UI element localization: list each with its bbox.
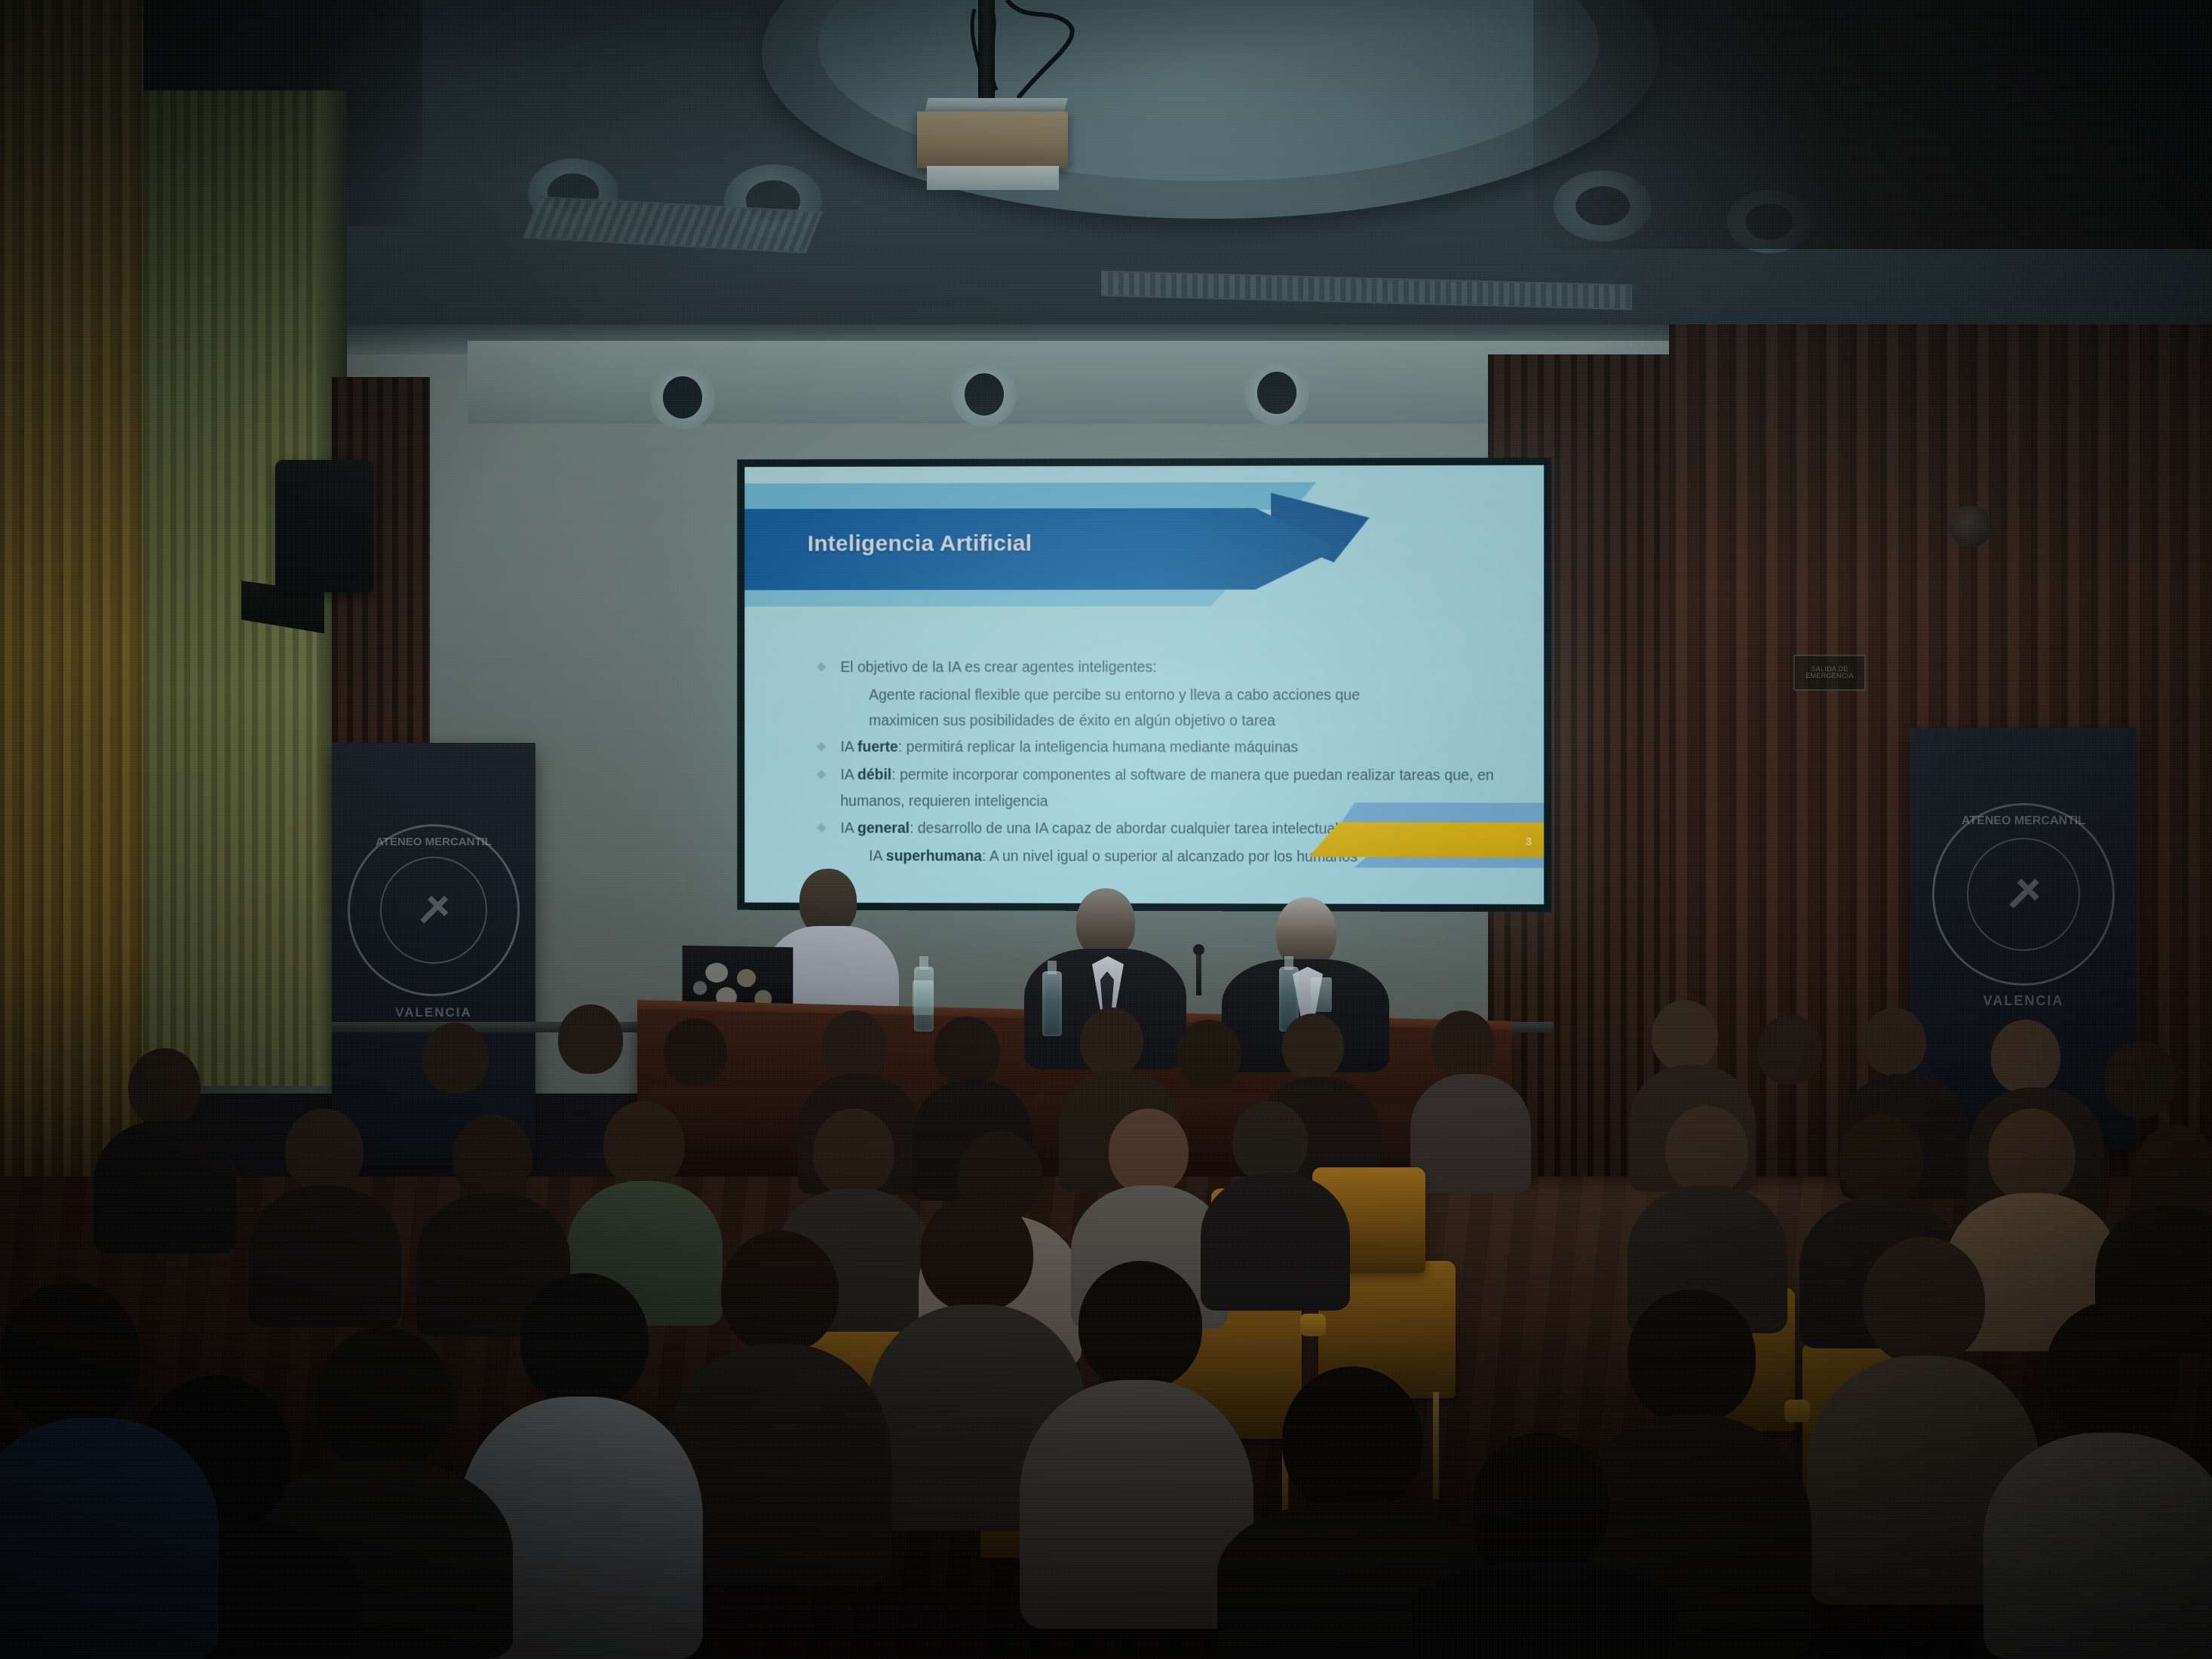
audience-head <box>1431 1010 1495 1078</box>
emergency-exit-sign: SALIDA DE EMERGENCIA <box>1793 655 1866 691</box>
audience-head <box>1652 1000 1718 1071</box>
audience-head <box>603 1101 685 1188</box>
audience-head <box>2134 1125 2212 1214</box>
conference-hall-photo: SALIDA DE EMERGENCIA Inteligencia Artifi… <box>0 0 2212 1659</box>
pa-speaker-left <box>275 460 373 592</box>
slide-banner-shadow <box>744 590 1226 607</box>
window-curtain-left <box>0 0 143 1176</box>
laptop-sticker-5 <box>693 981 707 995</box>
bullet-marker-icon <box>817 742 827 752</box>
audience-head-front <box>920 1194 1033 1312</box>
audience-head-front <box>721 1231 839 1353</box>
bullet-marker-icon <box>817 823 827 833</box>
ateneo-seal-icon: ✝ ATENEO MERCANTIL <box>1932 803 2115 986</box>
ateneo-seal-city-right: VALENCIA <box>1910 993 2137 1009</box>
chair-armrest-knob <box>1300 1314 1326 1336</box>
slide-bullet-1-text: El objetivo de la IA es crear agentes in… <box>840 659 1156 676</box>
chair-armrest-knob <box>1784 1400 1810 1422</box>
slide-final-text: : A un nivel igual o superior al alcanza… <box>982 848 1358 866</box>
rollup-banner-left: ✝ ATENEO MERCANTIL VALENCIA <box>332 743 535 1165</box>
slide-bullet-3-keyword: débil <box>857 766 891 783</box>
auditorium-room: SALIDA DE EMERGENCIA Inteligencia Artifi… <box>0 0 2212 1659</box>
audience-head <box>664 1018 727 1086</box>
projector-cables <box>935 0 1184 113</box>
audience-head <box>1988 1109 2075 1202</box>
audience-head <box>1991 1020 2060 1093</box>
audience-head <box>422 1023 489 1093</box>
slide-final-keyword: superhumana <box>886 848 982 864</box>
audience-body-front <box>1983 1433 2212 1659</box>
water-glass-2 <box>1311 977 1332 1012</box>
audience-head <box>1080 1007 1143 1075</box>
audience-head-front <box>1863 1237 1985 1365</box>
projector-lens-housing <box>927 166 1059 190</box>
ateneo-seal-org-right: ATENEO MERCANTIL <box>1934 814 2112 828</box>
ateneo-seal-icon: ✝ ATENEO MERCANTIL <box>348 824 520 996</box>
bullet-marker-icon <box>817 770 827 780</box>
slide-bullet-1-sub-2: maximicen sus posibilidades de éxito en … <box>869 708 1503 734</box>
audience-head <box>1665 1105 1748 1194</box>
slide-bullet-4-keyword: general <box>857 820 910 837</box>
audience-body-front <box>0 1418 219 1659</box>
water-glass-1 <box>913 980 934 1015</box>
audience-head <box>1757 1015 1822 1084</box>
water-bottle-2 <box>1042 971 1062 1036</box>
audience-head <box>1282 1013 1344 1080</box>
audience-head <box>285 1109 364 1193</box>
slide-bullet-1: El objetivo de la IA es crear agentes in… <box>811 655 1503 681</box>
audience-body <box>1201 1173 1350 1311</box>
audience-head <box>822 1010 887 1080</box>
laptop-sticker-2 <box>737 969 756 987</box>
slide-bullet-2-keyword: fuerte <box>857 739 898 756</box>
ateneo-seal-city-left: VALENCIA <box>332 1005 535 1020</box>
audience-head <box>2104 1041 2177 1118</box>
audience-head-front <box>520 1273 649 1406</box>
wall-speaker-round-icon <box>1950 505 1992 547</box>
audience-head <box>558 1004 623 1074</box>
slide-bullet-1-sub-1: Agente racional flexible que percibe su … <box>869 682 1503 709</box>
audience-head-front <box>2045 1302 2180 1442</box>
audience-head <box>453 1115 532 1201</box>
audience-head <box>1177 1020 1241 1089</box>
audience-head-front <box>1628 1289 1756 1424</box>
audience-body <box>249 1185 401 1327</box>
audience-head <box>1863 1007 1926 1075</box>
slide-banner-light <box>744 483 1316 511</box>
audience-head <box>934 1017 1000 1087</box>
bullet-marker-icon <box>817 662 827 672</box>
audience-head <box>1232 1101 1308 1182</box>
audience-body <box>94 1121 237 1253</box>
slide-title: Inteligencia Artificial <box>808 531 1032 557</box>
audience-head <box>1109 1109 1189 1194</box>
audience-head <box>813 1109 894 1196</box>
audience-head <box>1839 1115 1923 1205</box>
ateneo-seal-org-left: ATENEO MERCANTIL <box>350 836 517 848</box>
audience-head-front <box>1472 1433 1609 1576</box>
projection-screen: Inteligencia Artificial El objetivo de l… <box>737 458 1551 912</box>
slide-bullet-2: IA fuerte: permitirá replicar la intelig… <box>811 734 1503 761</box>
slide-final-prefix: IA <box>869 848 886 864</box>
slide-bullet-4-prefix: IA <box>840 820 857 837</box>
audience-head-front <box>315 1327 453 1470</box>
chair-leg <box>1433 1392 1439 1499</box>
ceiling-shadow-right <box>1533 0 2212 249</box>
slide-bullet-2-prefix: IA <box>840 739 857 756</box>
table-microphone <box>1196 952 1201 995</box>
audience-head-front <box>1078 1261 1202 1389</box>
projector-body <box>917 112 1068 168</box>
slide-footer-yellow-arrow <box>1308 822 1544 857</box>
audience-head-front <box>1282 1366 1422 1513</box>
slide-bullet-2-text: : permitirá replicar la inteligencia hum… <box>898 739 1299 756</box>
laptop-sticker-1 <box>705 963 728 983</box>
audience-head-front <box>0 1282 140 1430</box>
slide-page-number: 3 <box>1526 836 1532 848</box>
presentation-slide: Inteligencia Artificial El objetivo de l… <box>744 465 1544 904</box>
audience-head <box>128 1048 201 1127</box>
panelist-1-head <box>1076 888 1135 958</box>
exit-sign-line2: EMERGENCIA <box>1805 673 1854 679</box>
audience-body <box>1410 1074 1531 1193</box>
slide-bullet-3-prefix: IA <box>840 766 857 783</box>
projector-mount-pole <box>978 0 995 98</box>
presenter-head <box>799 869 857 935</box>
audience-body-front <box>1412 1562 1674 1659</box>
